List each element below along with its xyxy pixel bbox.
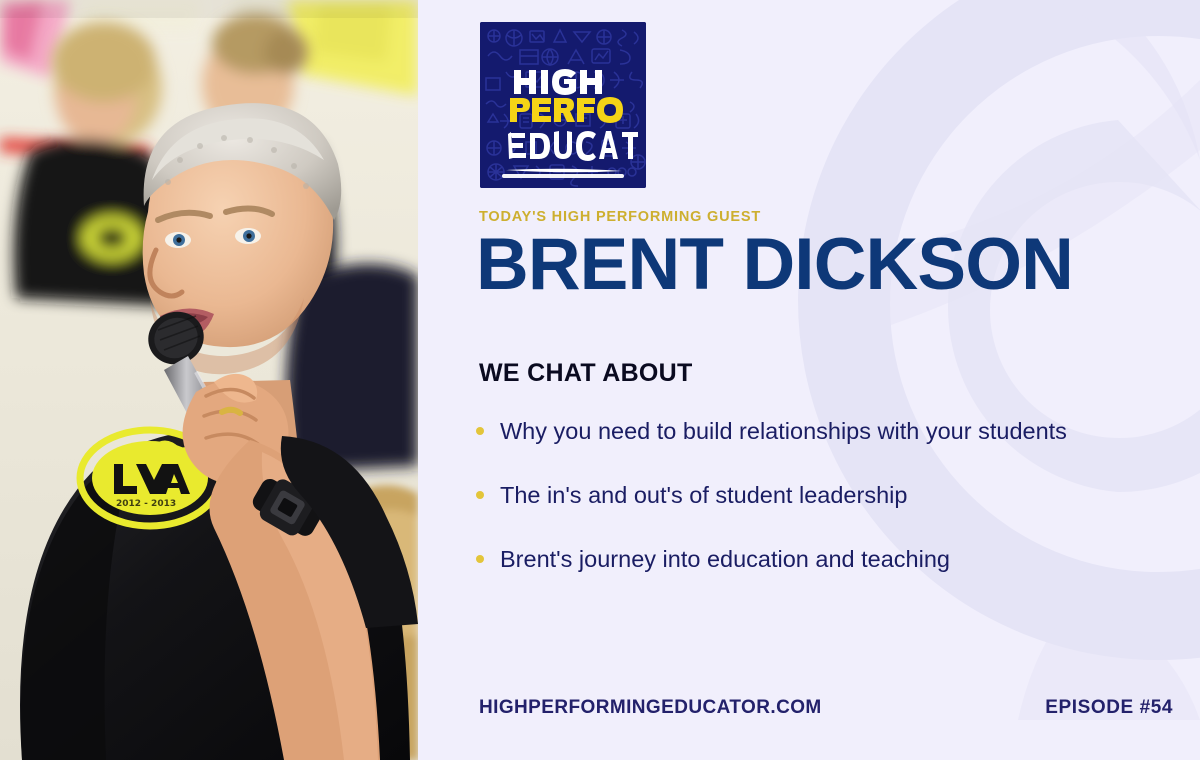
list-item: The in's and out's of student leadership — [476, 482, 1192, 508]
svg-text:2012 - 2013: 2012 - 2013 — [116, 499, 176, 509]
list-item-label: Why you need to build relationships with… — [500, 418, 1067, 444]
high-performing-educator-logo — [480, 22, 646, 188]
list-item: Brent's journey into education and teach… — [476, 546, 1192, 572]
card-footer: HIGHPERFORMINGEDUCATOR.COM EPISODE #54 — [479, 697, 1173, 719]
episode-promo-card: 2012 - 2013 — [0, 0, 1200, 760]
topics-list: Why you need to build relationships with… — [476, 418, 1192, 572]
we-chat-about-heading: WE CHAT ABOUT — [479, 359, 693, 388]
list-item-label: Brent's journey into education and teach… — [500, 546, 950, 572]
guest-kicker: TODAY'S HIGH PERFORMING GUEST — [479, 209, 761, 225]
episode-number: EPISODE #54 — [1045, 697, 1173, 719]
list-item-label: The in's and out's of student leadership — [500, 482, 907, 508]
bullet-dot-icon — [476, 427, 484, 435]
list-item: Why you need to build relationships with… — [476, 418, 1192, 444]
guest-name: BRENT DICKSON — [476, 228, 1073, 302]
bullet-dot-icon — [476, 491, 484, 499]
guest-photo: 2012 - 2013 — [0, 0, 418, 760]
episode-details: TODAY'S HIGH PERFORMING GUEST BRENT DICK… — [418, 0, 1200, 760]
bullet-dot-icon — [476, 555, 484, 563]
website-url: HIGHPERFORMINGEDUCATOR.COM — [479, 697, 822, 719]
